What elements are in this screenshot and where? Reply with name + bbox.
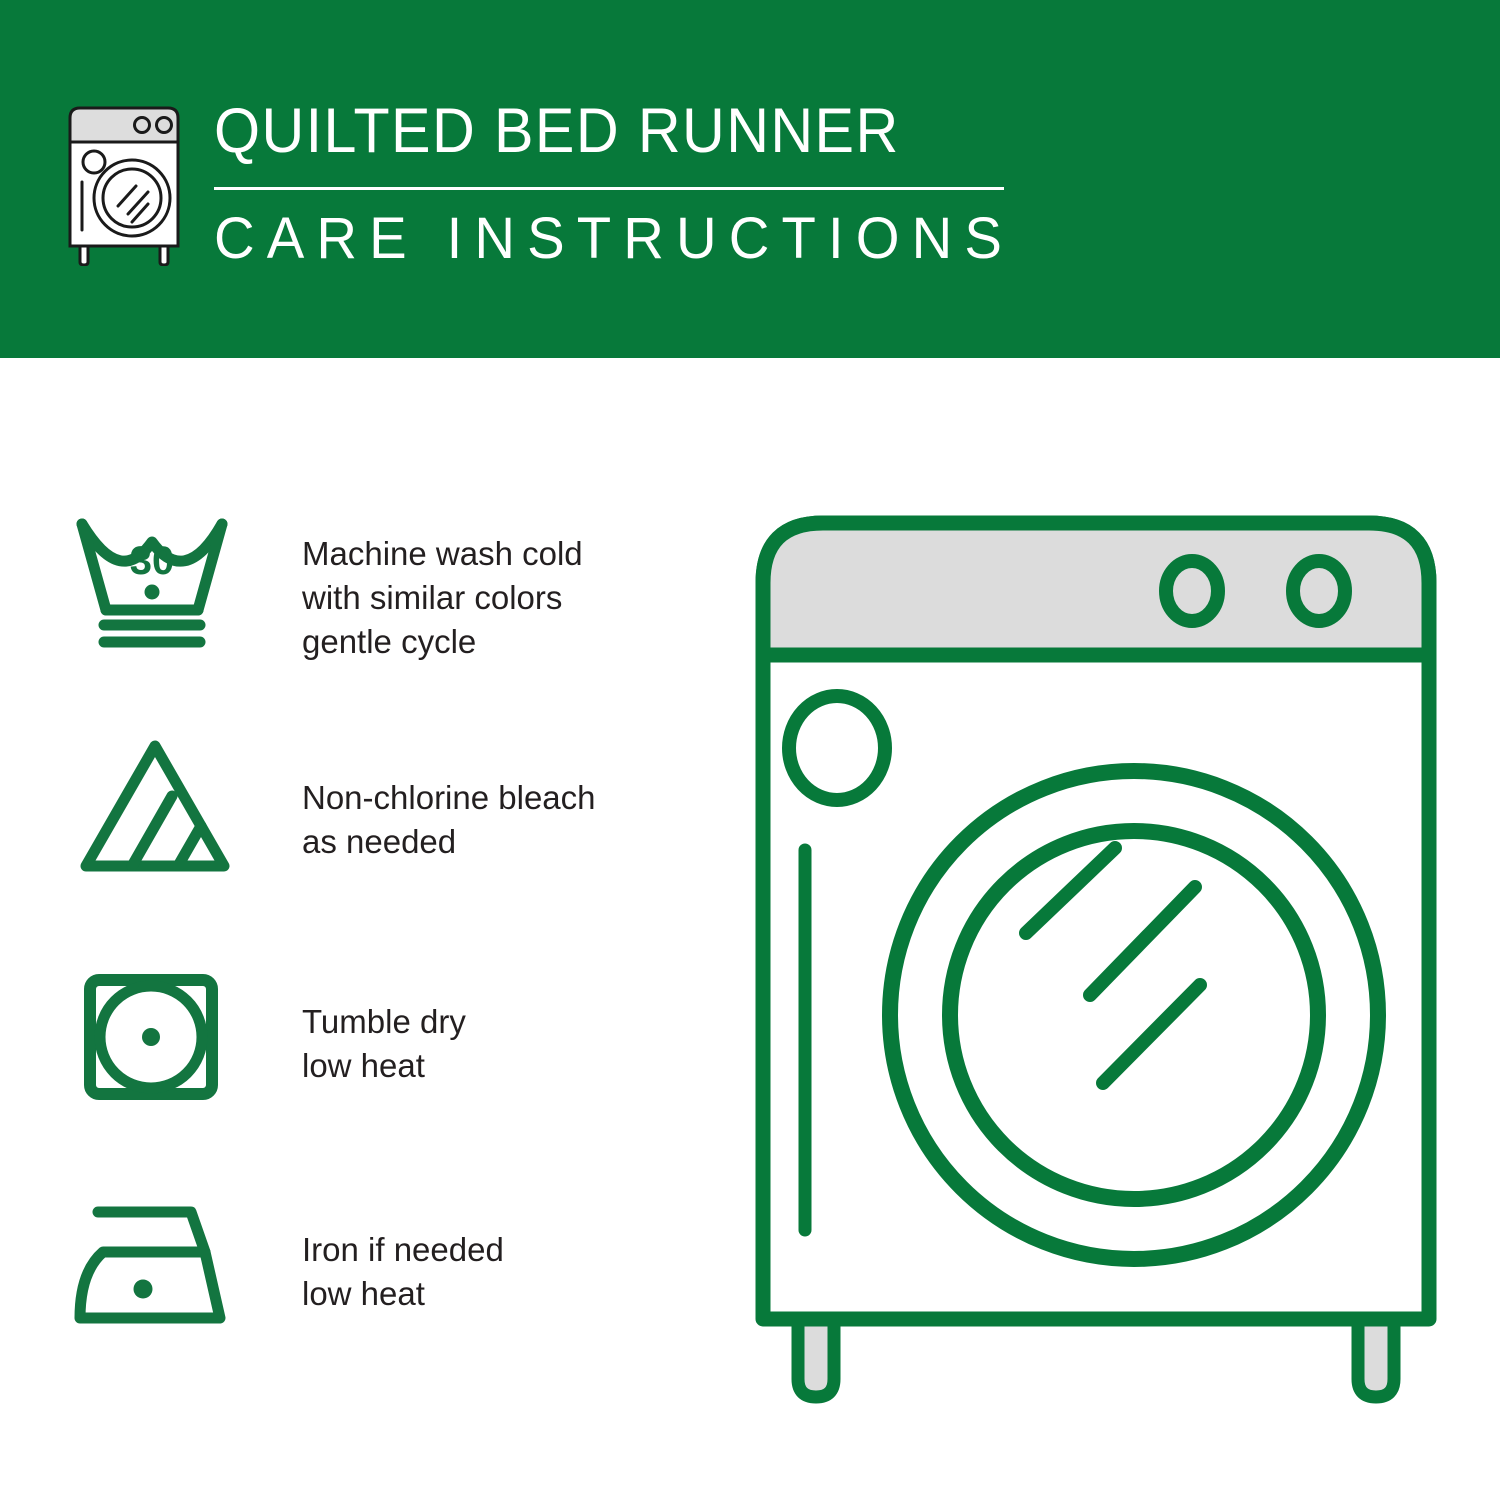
care-text-tumble-dry: Tumble dry low heat (302, 962, 466, 1088)
title-divider (214, 187, 1004, 190)
care-row-machine-wash: 30 Machine wash cold with similar colors… (70, 506, 710, 734)
washing-machine-illustration (745, 495, 1455, 1420)
care-row-tumble-dry: Tumble dry low heat (70, 962, 710, 1190)
care-row-bleach: Non-chlorine bleach as needed (70, 734, 710, 962)
non-chlorine-bleach-symbol (70, 734, 240, 884)
machine-wash-30-gentle-symbol: 30 (70, 506, 240, 656)
detergent-port-icon (789, 696, 885, 800)
care-text-machine-wash: Machine wash cold with similar colors ge… (302, 506, 583, 664)
wash-temperature-label: 30 (130, 539, 175, 583)
product-title: QUILTED BED RUNNER (214, 96, 989, 163)
header-content: QUILTED BED RUNNER CARE INSTRUCTIONS (60, 96, 1039, 268)
care-row-iron: Iron if needed low heat (70, 1190, 710, 1418)
care-instruction-list: 30 Machine wash cold with similar colors… (70, 506, 710, 1418)
care-instructions-title: CARE INSTRUCTIONS (214, 210, 1014, 268)
tumble-dry-low-symbol (70, 962, 240, 1112)
iron-low-heat-symbol (70, 1190, 240, 1340)
machine-door-inner (950, 831, 1318, 1199)
header-banner: QUILTED BED RUNNER CARE INSTRUCTIONS (0, 0, 1500, 358)
washing-machine-icon (60, 104, 188, 266)
care-text-bleach: Non-chlorine bleach as needed (302, 734, 596, 864)
care-text-iron: Iron if needed low heat (302, 1190, 504, 1316)
machine-legs (798, 1317, 1394, 1397)
control-knob-2 (1293, 561, 1345, 621)
control-knob-1 (1166, 561, 1218, 621)
header-titles: QUILTED BED RUNNER CARE INSTRUCTIONS (214, 96, 1039, 268)
